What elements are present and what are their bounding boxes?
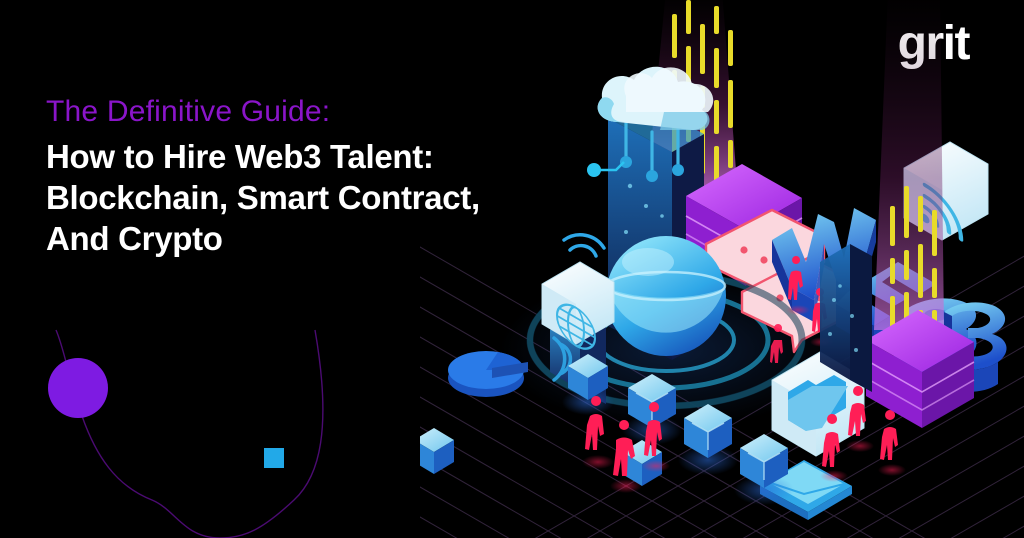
person-figure [878,410,906,476]
cyan-square [264,448,284,468]
blob-path [56,330,323,538]
hero-banner: grit The Definitive Guide: How to Hire W… [0,0,1024,538]
purple-circle [48,358,108,418]
web3-illustration [420,0,1024,538]
